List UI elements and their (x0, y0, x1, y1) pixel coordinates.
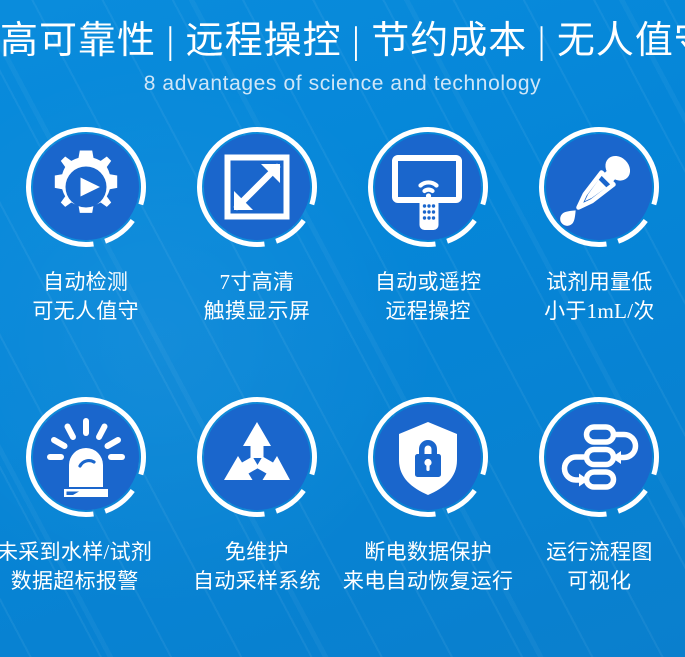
dropper-icon (536, 124, 662, 250)
gear-play-icon (23, 124, 149, 250)
feature-label-4-line2: 小于1mL/次 (544, 297, 655, 326)
feature-label-2-line2: 触摸显示屏 (204, 297, 311, 326)
feature-label-8: 运行流程图 可视化 (546, 538, 653, 596)
feature-label-2: 7寸高清 触摸显示屏 (204, 268, 311, 326)
feature-label-5-line1: 未采到水样/试剂 (0, 540, 152, 564)
alarm-siren-icon (23, 394, 149, 520)
feature-label-4: 试剂用量低 小于1mL/次 (544, 268, 655, 326)
feature-label-7-line1: 断电数据保护 (364, 540, 492, 564)
feature-item-1[interactable]: 自动检测 可无人值守 (0, 124, 171, 394)
feature-item-5[interactable]: 未采到水样/试剂 数据超标报警 (0, 394, 171, 631)
shield-lock-icon (365, 394, 491, 520)
expand-screen-icon (194, 124, 320, 250)
feature-item-8[interactable]: 运行流程图 可视化 (514, 394, 685, 631)
feature-label-6-line2: 自动采样系统 (193, 567, 321, 596)
feature-label-3-line2: 远程操控 (375, 297, 482, 326)
feature-label-8-line1: 运行流程图 (546, 540, 653, 564)
feature-label-3: 自动或遥控 远程操控 (375, 268, 482, 326)
feature-label-8-line2: 可视化 (546, 567, 653, 596)
poster-root: 高可靠性 | 远程操控 | 节约成本 | 无人值守 8 advantages o… (0, 0, 685, 657)
flowchart-loop-icon (536, 394, 662, 520)
header: 高可靠性 | 远程操控 | 节约成本 | 无人值守 8 advantages o… (0, 0, 685, 98)
feature-label-1-line2: 可无人值守 (32, 297, 139, 326)
feature-item-3[interactable]: 自动或遥控 远程操控 (343, 124, 514, 394)
feature-label-7: 断电数据保护 来电自动恢复运行 (343, 538, 513, 596)
feature-item-7[interactable]: 断电数据保护 来电自动恢复运行 (343, 394, 514, 631)
feature-label-1: 自动检测 可无人值守 (32, 268, 139, 326)
feature-item-4[interactable]: 试剂用量低 小于1mL/次 (514, 124, 685, 394)
feature-label-5: 未采到水样/试剂 数据超标报警 (0, 538, 152, 596)
feature-label-5-line2: 数据超标报警 (0, 567, 152, 596)
feature-label-6: 免维护 自动采样系统 (193, 538, 321, 596)
feature-label-3-line1: 自动或遥控 (375, 270, 482, 294)
feature-item-2[interactable]: 7寸高清 触摸显示屏 (171, 124, 342, 394)
page-subtitle: 8 advantages of science and technology (0, 70, 685, 98)
feature-label-6-line1: 免维护 (225, 540, 289, 564)
feature-item-6[interactable]: 免维护 自动采样系统 (171, 394, 342, 631)
feature-label-4-line1: 试剂用量低 (546, 270, 653, 294)
feature-label-1-line1: 自动检测 (43, 270, 128, 294)
features-grid: 自动检测 可无人值守 7寸高清 触摸显示屏 (0, 124, 685, 631)
page-title: 高可靠性 | 远程操控 | 节约成本 | 无人值守 (0, 18, 685, 64)
monitor-remote-icon (365, 124, 491, 250)
feature-label-2-line1: 7寸高清 (220, 270, 295, 294)
recycle-icon (194, 394, 320, 520)
feature-label-7-line2: 来电自动恢复运行 (343, 567, 513, 596)
